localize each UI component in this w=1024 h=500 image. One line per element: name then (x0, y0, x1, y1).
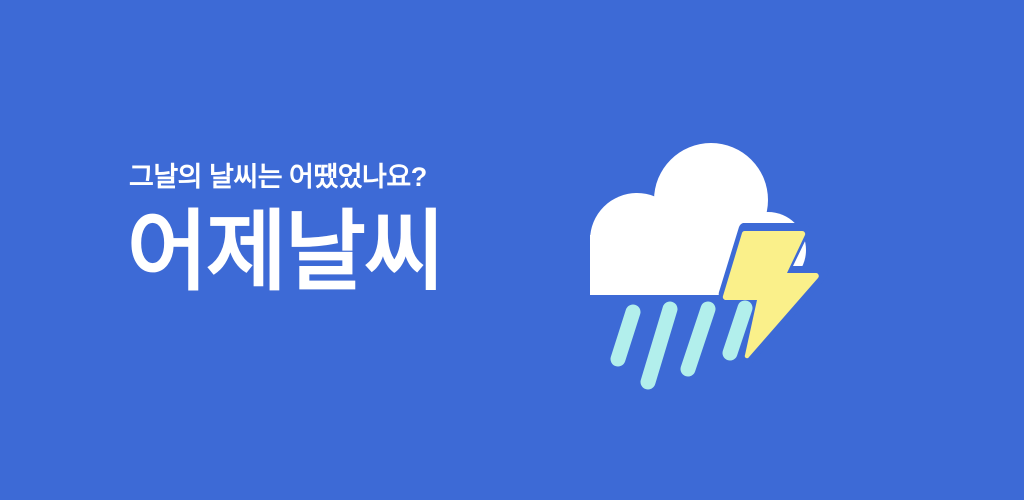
rain-streak-1 (618, 312, 633, 359)
rain-streak-2 (648, 309, 670, 382)
banner-text-block: 그날의 날씨는 어땠었나요? 어제날씨 (127, 160, 557, 300)
banner-tagline: 그날의 날씨는 어땠었나요? (129, 160, 557, 194)
rain-streak-3 (688, 309, 708, 369)
thunderstorm-rain-icon (560, 110, 860, 410)
app-title: 어제날씨 (127, 204, 557, 300)
rain-streaks-icon (618, 308, 745, 382)
app-banner: 그날의 날씨는 어땠었나요? 어제날씨 (0, 0, 1024, 500)
rain-streak-4 (730, 308, 745, 353)
